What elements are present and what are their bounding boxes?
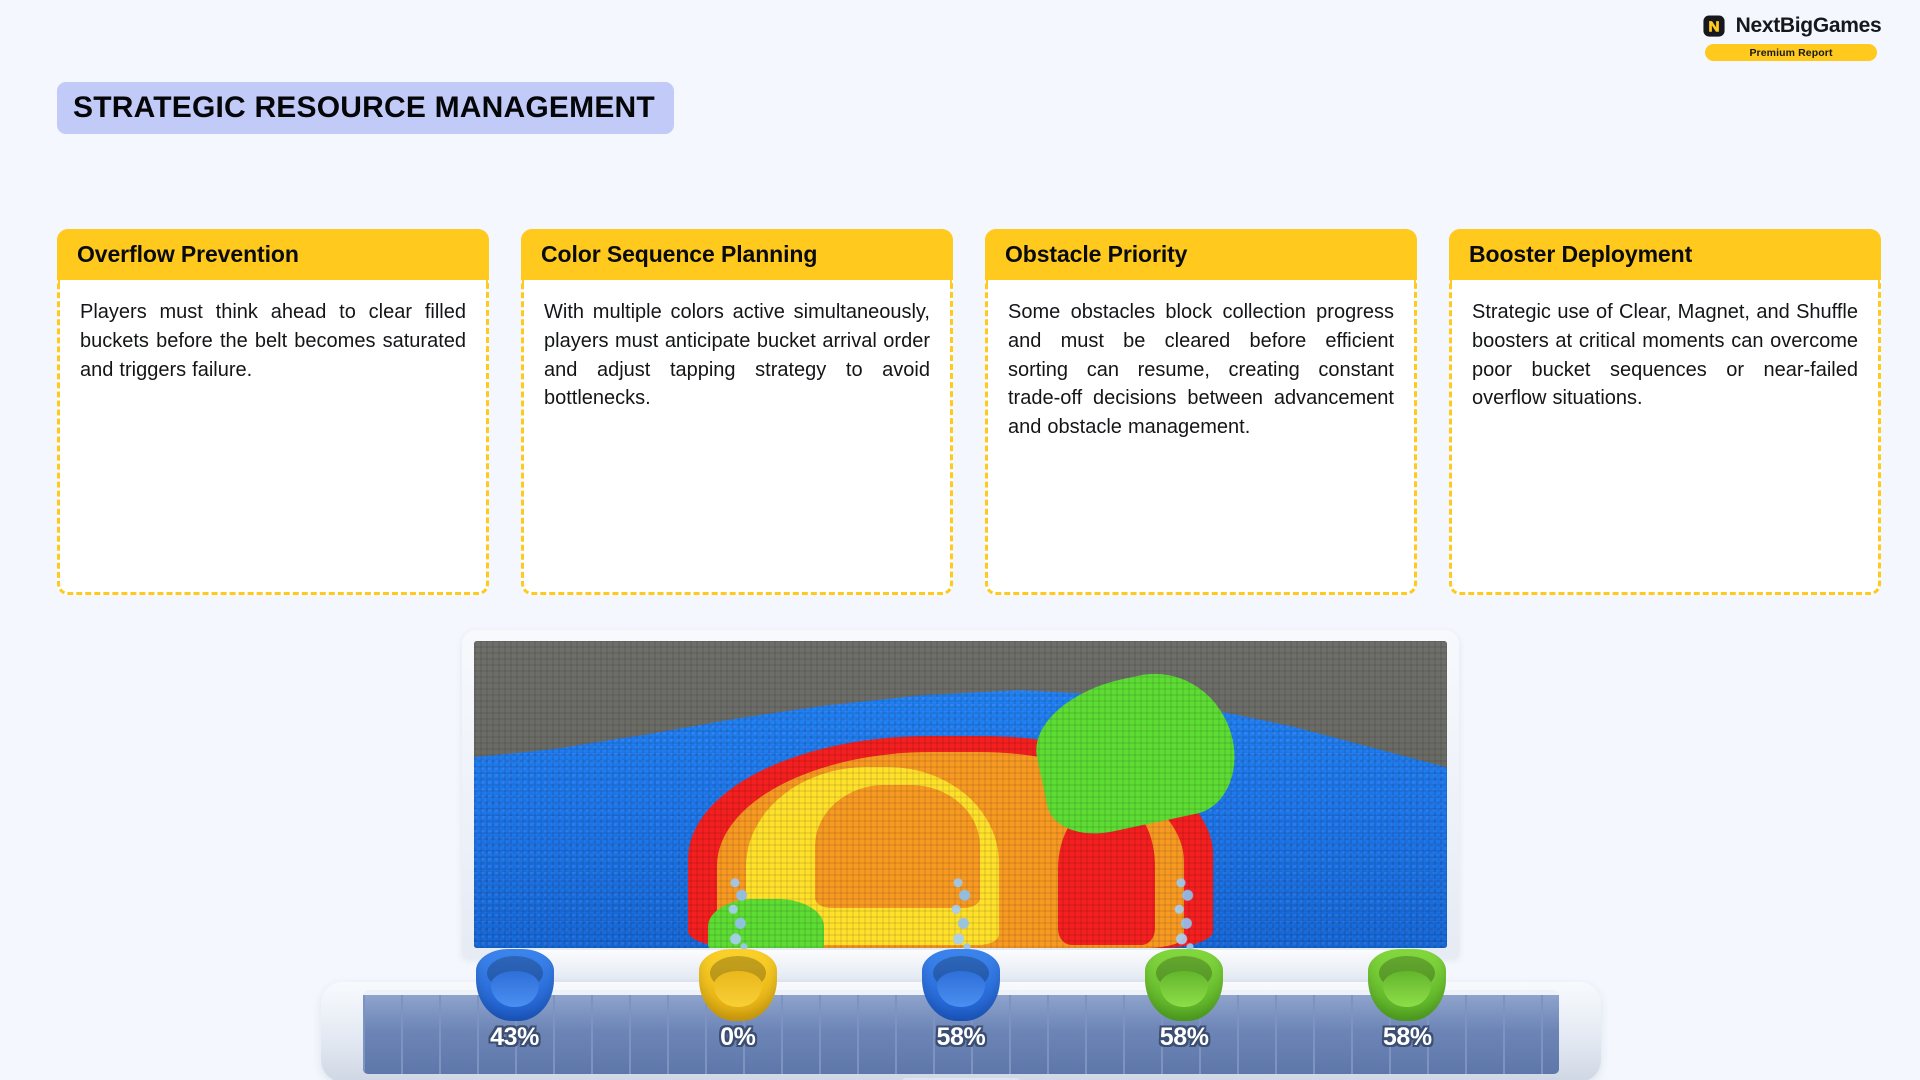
bucket-cup[interactable] <box>922 949 1000 1021</box>
page-title: STRATEGIC RESOURCE MANAGEMENT <box>73 91 655 125</box>
strategy-card: Color Sequence Planning With multiple co… <box>521 229 953 595</box>
slide-root: NextBigGames Premium Report STRATEGIC RE… <box>0 0 1920 1080</box>
strategy-card: Obstacle Priority Some obstacles block c… <box>985 229 1417 595</box>
strategy-card-title: Booster Deployment <box>1469 241 1692 268</box>
strategy-card-header: Obstacle Priority <box>985 229 1417 280</box>
bucket[interactable]: 58% <box>1142 949 1226 1052</box>
water-splash-icon <box>1169 875 1199 953</box>
strategy-card-title: Color Sequence Planning <box>541 241 817 268</box>
brand-row: NextBigGames <box>1701 13 1882 39</box>
bucket[interactable]: 43% <box>473 949 557 1052</box>
strategy-card-body: Strategic use of Clear, Magnet, and Shuf… <box>1449 280 1881 595</box>
bucket-fill-percent: 0% <box>720 1023 755 1052</box>
bucket-fill-percent: 58% <box>1383 1023 1432 1052</box>
strategy-card-title: Overflow Prevention <box>77 241 299 268</box>
strategy-cards-row: Overflow Prevention Players must think a… <box>57 229 1881 595</box>
strategy-card-text: Strategic use of Clear, Magnet, and Shuf… <box>1472 298 1858 413</box>
premium-report-badge: Premium Report <box>1705 44 1877 61</box>
strategy-card-body: Players must think ahead to clear filled… <box>57 280 489 595</box>
bucket-cup[interactable] <box>699 949 777 1021</box>
water-splash-icon <box>946 875 976 953</box>
bucket-fill-percent: 58% <box>937 1023 986 1052</box>
nextbiggames-n-logo-icon <box>1701 13 1727 39</box>
brand-name: NextBigGames <box>1736 14 1882 38</box>
strategy-card: Overflow Prevention Players must think a… <box>57 229 489 595</box>
strategy-card-body: With multiple colors active simultaneous… <box>521 280 953 595</box>
bucket-row: 43% 0% 58% 58% <box>363 949 1559 1069</box>
bucket[interactable]: 58% <box>1365 949 1449 1052</box>
strategy-card-header: Overflow Prevention <box>57 229 489 280</box>
strategy-card-text: Some obstacles block collection progress… <box>1008 298 1394 442</box>
strategy-card-header: Booster Deployment <box>1449 229 1881 280</box>
strategy-card-text: Players must think ahead to clear filled… <box>80 298 466 384</box>
strategy-card-body: Some obstacles block collection progress… <box>985 280 1417 595</box>
bucket[interactable]: 58% <box>919 949 1003 1052</box>
strategy-card: Booster Deployment Strategic use of Clea… <box>1449 229 1881 595</box>
conveyor-belt: 43% 0% 58% 58% <box>363 990 1559 1074</box>
premium-report-badge-label: Premium Report <box>1749 47 1832 59</box>
water-splash-icon <box>723 875 753 953</box>
bucket-fill-percent: 43% <box>490 1023 539 1052</box>
brand-logo: NextBigGames Premium Report <box>1686 13 1896 61</box>
bucket-cup[interactable] <box>476 949 554 1021</box>
gameplay-illustration: 43% 0% 58% 58% <box>321 630 1601 1080</box>
bucket[interactable]: 0% <box>696 949 780 1052</box>
strategy-card-text: With multiple colors active simultaneous… <box>544 298 930 413</box>
strategy-card-header: Color Sequence Planning <box>521 229 953 280</box>
page-title-banner: STRATEGIC RESOURCE MANAGEMENT <box>57 82 674 134</box>
bucket-cup[interactable] <box>1368 949 1446 1021</box>
bucket-fill-percent: 58% <box>1160 1023 1209 1052</box>
strategy-card-title: Obstacle Priority <box>1005 241 1187 268</box>
bucket-cup[interactable] <box>1145 949 1223 1021</box>
conveyor-machine: 43% 0% 58% 58% <box>321 982 1601 1080</box>
